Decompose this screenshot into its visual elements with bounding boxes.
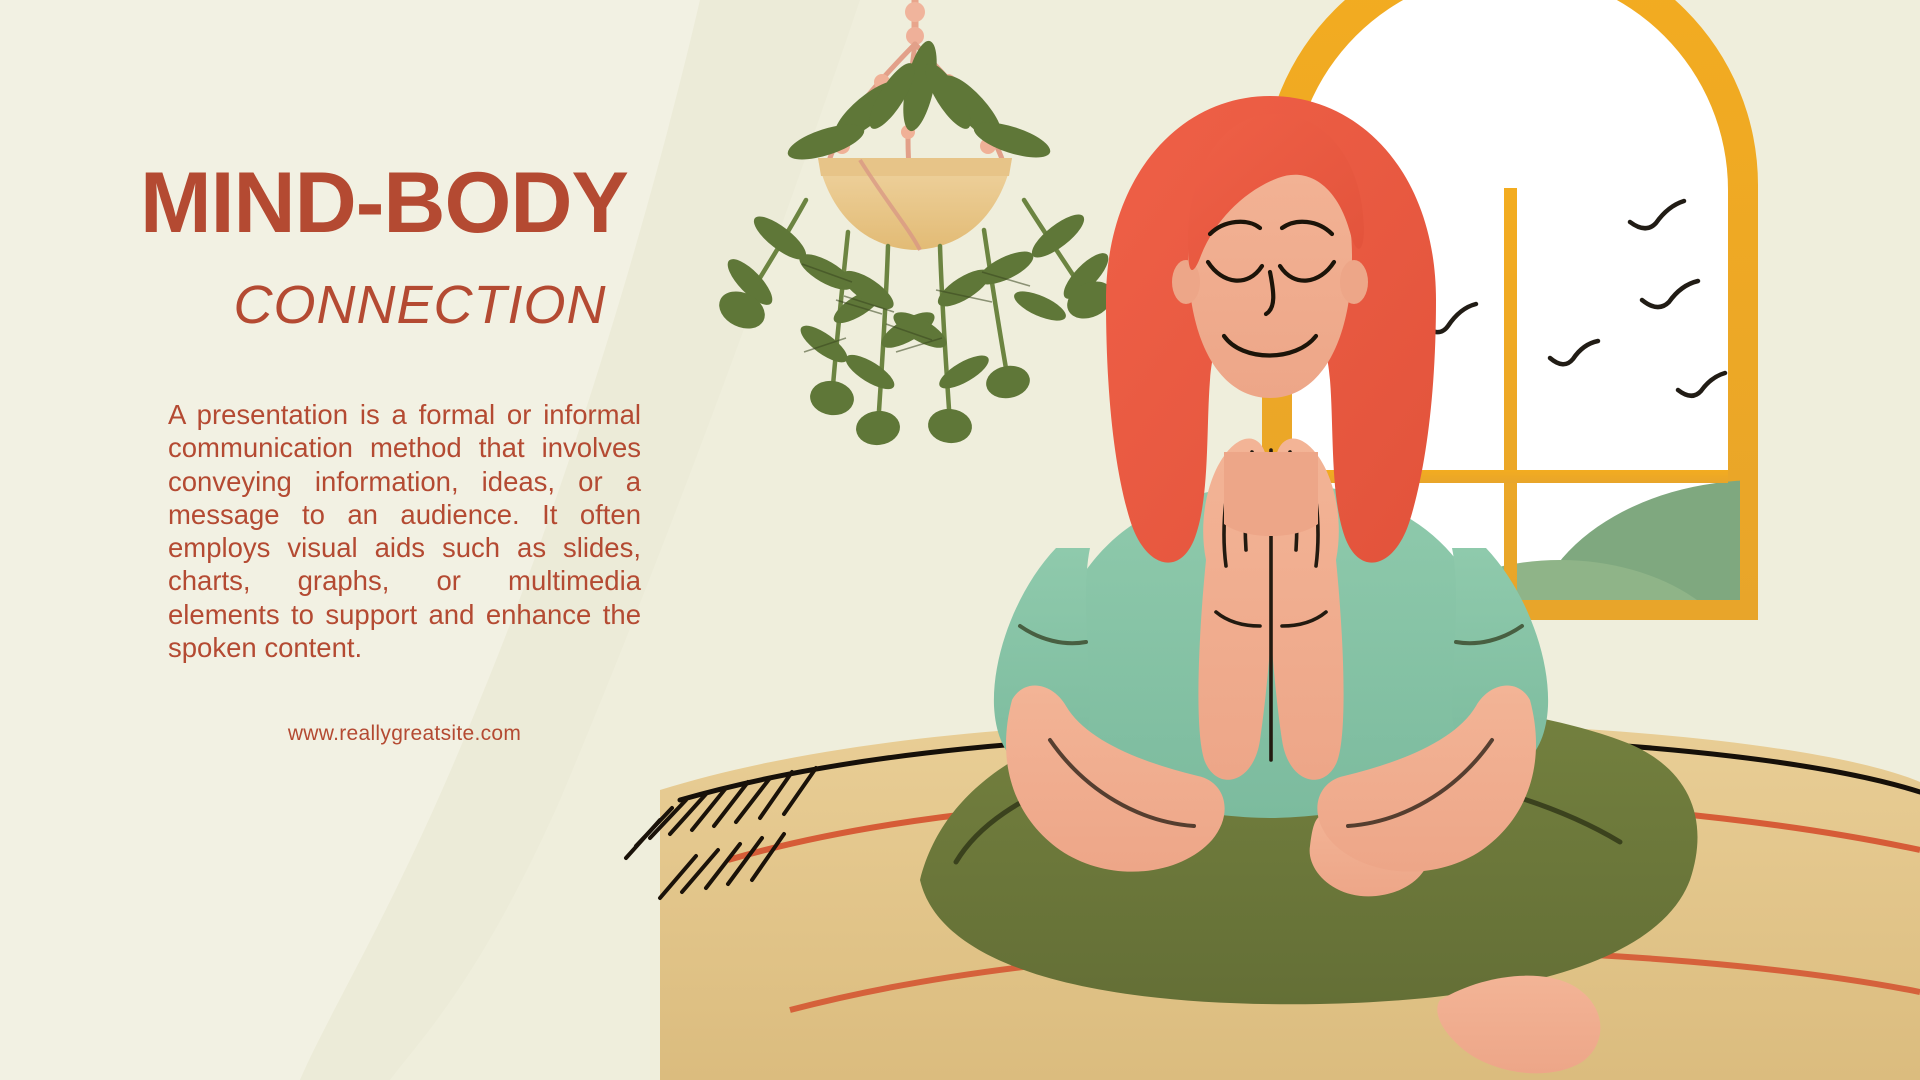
page-subtitle: CONNECTION: [140, 278, 700, 332]
hanging-plant: [713, 0, 1119, 447]
page-title: MIND-BODY: [140, 160, 700, 246]
plant-leaves-upper: [784, 38, 1054, 167]
body-paragraph: A presentation is a formal or informal c…: [168, 398, 641, 664]
text-column: MIND-BODY CONNECTION A presentation is a…: [0, 0, 700, 1080]
neck: [1224, 452, 1318, 536]
website-url: www.reallygreatsite.com: [168, 722, 641, 746]
presentation-slide: MIND-BODY CONNECTION A presentation is a…: [0, 0, 1920, 1080]
meditation-illustration: [620, 0, 1920, 1080]
